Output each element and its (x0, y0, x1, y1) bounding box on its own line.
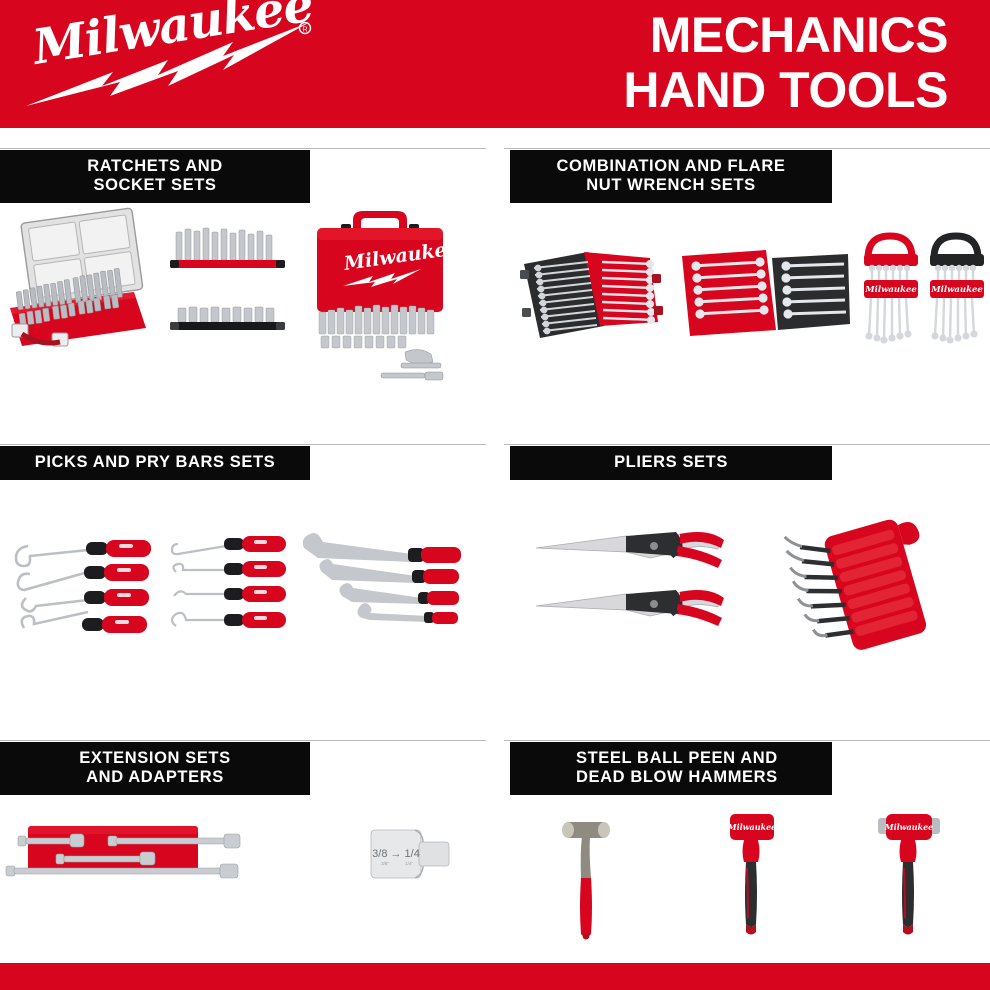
adapter-size-label: 3/8 → 1/4 (372, 848, 420, 860)
section-title-line1: EXTENSION SETS (10, 749, 300, 768)
section-picks-and-pry-bars-sets: PICKS AND PRY BARS SETS (0, 444, 486, 706)
section-title-line1: PLIERS SETS (520, 453, 822, 472)
product-hook-and-pick-set-large[interactable] (10, 532, 155, 647)
footer-bar (0, 963, 990, 990)
section-title-line2: SOCKET SETS (10, 176, 300, 195)
section-ratchets-and-socket-sets: RATCHETS AND SOCKET SETS (0, 148, 486, 410)
section-title-line1: STEEL BALL PEEN AND (576, 749, 822, 768)
product-pry-bar-set[interactable] (300, 530, 460, 640)
svg-text:3/8": 3/8" (381, 861, 389, 866)
product-snap-ring-pliers-rack[interactable] (792, 506, 972, 666)
mechanics-hand-tools-poster: Milwaukee R MECHANICS HAND TOOLS RATCHET… (0, 0, 990, 990)
svg-text:1/4": 1/4" (405, 861, 413, 866)
section-combination-and-flare-nut-wrench-sets: COMBINATION AND FLARE NUT WRENCH SETS (504, 148, 990, 410)
section-divider-rule (504, 444, 990, 445)
section-title-line2: AND ADAPTERS (10, 768, 300, 787)
page-title-line2: HAND TOOLS (328, 63, 948, 118)
section-title-line1: COMBINATION AND FLARE (520, 157, 822, 176)
product-socket-rail-deep[interactable] (170, 226, 285, 274)
product-hook-and-pick-set-mini[interactable] (168, 532, 293, 647)
section-title-line1: RATCHETS AND (10, 157, 300, 176)
product-dead-blow-hammer-steel-face[interactable]: Milwaukee (874, 808, 944, 948)
section-header-combination-and-flare-nut-wrench-sets: COMBINATION AND FLARE NUT WRENCH SETS (510, 150, 832, 203)
page-title: MECHANICS HAND TOOLS (328, 8, 948, 118)
product-socket-adapter[interactable]: 3/8 → 1/4 3/8" 1/4" (365, 822, 465, 890)
svg-text:R: R (302, 27, 307, 34)
svg-text:Milwaukee: Milwaukee (884, 822, 934, 832)
section-divider-rule (0, 444, 486, 445)
product-extension-bar-set-red-holder[interactable] (4, 820, 324, 890)
section-divider-rule (504, 148, 990, 149)
section-title-line1: PICKS AND PRY BARS SETS (10, 453, 300, 472)
milwaukee-logo: Milwaukee R (18, 8, 318, 120)
section-header-ratchets-and-socket-sets: RATCHETS AND SOCKET SETS (0, 150, 310, 203)
product-wrench-rack-black[interactable]: Milwaukee (926, 228, 988, 358)
page-title-line1: MECHANICS (650, 7, 948, 63)
page-header: Milwaukee R MECHANICS HAND TOOLS (0, 0, 990, 128)
section-title-line2: NUT WRENCH SETS (520, 176, 822, 195)
product-dead-blow-hammer[interactable]: Milwaukee (722, 808, 782, 948)
section-divider-rule (504, 740, 990, 741)
product-ball-peen-hammer[interactable] (556, 812, 616, 948)
section-header-pliers-sets: PLIERS SETS (510, 446, 832, 480)
product-socket-rail-shallow[interactable] (170, 300, 285, 335)
product-flare-nut-wrench-tray-set[interactable] (680, 242, 850, 347)
product-wrench-rack-red[interactable]: Milwaukee (860, 228, 922, 358)
svg-text:Milwaukee: Milwaukee (930, 285, 983, 295)
section-extension-sets-and-adapters: EXTENSION SETS AND ADAPTERS (0, 740, 486, 960)
product-long-nose-pliers-pair[interactable] (530, 524, 750, 649)
svg-text:Milwaukee: Milwaukee (27, 0, 317, 76)
section-title-line2: DEAD BLOW HAMMERS (576, 768, 822, 787)
section-divider-rule (0, 740, 486, 741)
milwaukee-logo-svg: Milwaukee R (18, 8, 318, 120)
product-socket-set-closed-case[interactable]: Milwaukee (305, 206, 455, 381)
section-header-steel-ball-peen-and-dead-blow-hammers: STEEL BALL PEEN AND DEAD BLOW HAMMERS (510, 742, 832, 795)
section-header-picks-and-pry-bars-sets: PICKS AND PRY BARS SETS (0, 446, 310, 480)
product-socket-set-open-case[interactable] (6, 212, 151, 357)
product-ratcheting-wrench-tray-set[interactable] (518, 242, 663, 347)
svg-text:Milwaukee: Milwaukee (864, 285, 917, 295)
svg-text:Milwaukee: Milwaukee (727, 822, 777, 832)
section-divider-rule (0, 148, 486, 149)
section-header-extension-sets-and-adapters: EXTENSION SETS AND ADAPTERS (0, 742, 310, 795)
section-steel-ball-peen-and-dead-blow-hammers: STEEL BALL PEEN AND DEAD BLOW HAMMERS (504, 740, 990, 960)
section-pliers-sets: PLIERS SETS (504, 444, 990, 706)
